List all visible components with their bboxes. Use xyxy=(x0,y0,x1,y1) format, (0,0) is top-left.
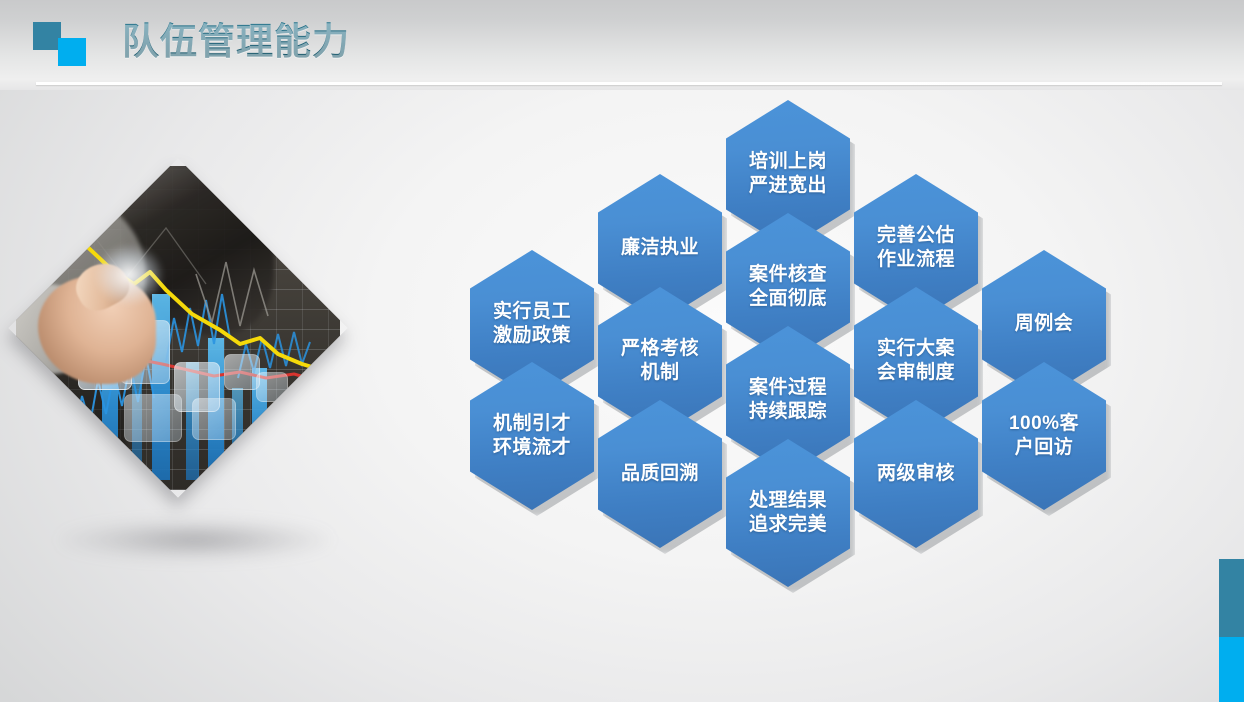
hexagon-label: 案件过程 持续跟踪 xyxy=(745,376,831,424)
hexagon-label: 实行员工 激励政策 xyxy=(489,300,575,348)
hexagon-label: 培训上岗 严进宽出 xyxy=(745,150,831,198)
hexagon-label: 实行大案 会审制度 xyxy=(873,337,959,385)
hexagon-label: 案件核查 全面彻底 xyxy=(745,263,831,311)
slide-canvas: 队伍管理能力 xyxy=(0,0,1244,702)
accent-block-cyan xyxy=(1219,637,1244,702)
hexagon-label: 完善公估 作业流程 xyxy=(873,224,959,272)
accent-block-teal xyxy=(1219,559,1244,637)
hexagon-label: 100%客 户回访 xyxy=(1005,412,1083,460)
hexagon-label: 机制引才 环境流才 xyxy=(489,412,575,460)
hexagon-label: 周例会 xyxy=(1011,312,1078,336)
hexagon-cluster: 实行员工 激励政策机制引才 环境流才廉洁执业严格考核 机制品质回溯培训上岗 严进… xyxy=(0,0,1244,702)
hexagon-label: 两级审核 xyxy=(873,462,959,486)
hexagon-label: 严格考核 机制 xyxy=(617,337,703,385)
hexagon-label: 处理结果 追求完美 xyxy=(745,489,831,537)
hexagon-label: 廉洁执业 xyxy=(617,236,703,260)
hexagon-label: 品质回溯 xyxy=(617,462,703,486)
